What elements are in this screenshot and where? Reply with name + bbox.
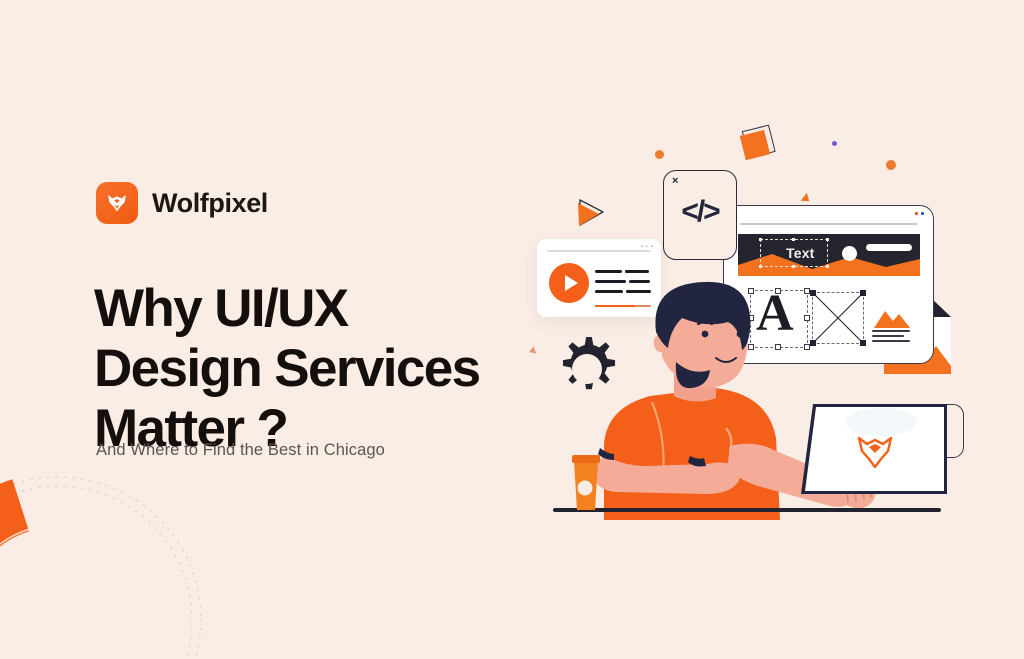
headline-line-1: Why UI/UX bbox=[94, 279, 554, 339]
headline-line-2: Design Services bbox=[94, 339, 554, 399]
card-divider bbox=[547, 250, 651, 252]
decor-dot-purple bbox=[832, 141, 837, 146]
code-icon: </> bbox=[664, 195, 736, 229]
page-title: Why UI/UX Design Services Matter ? bbox=[94, 279, 554, 459]
circle-shape bbox=[842, 246, 857, 261]
code-snippet-card[interactable]: × </> bbox=[663, 170, 737, 260]
brand-name: Wolfpixel bbox=[152, 188, 268, 219]
close-icon[interactable]: × bbox=[672, 175, 678, 187]
decorative-ring bbox=[0, 470, 208, 659]
pill-shape bbox=[866, 244, 912, 251]
play-triangle-icon bbox=[574, 196, 608, 230]
page-subtitle: And Where to Find the Best in Chicago bbox=[96, 441, 385, 460]
window-dots: • • • bbox=[641, 244, 654, 250]
window-controls[interactable] bbox=[915, 212, 924, 215]
decor-dot-orange-1 bbox=[655, 150, 664, 159]
toolbar-divider bbox=[740, 223, 917, 225]
hero-banner: Wolfpixel Why UI/UX Design Services Matt… bbox=[0, 0, 1024, 659]
brand-logo[interactable]: Wolfpixel bbox=[96, 182, 268, 224]
wolf-head-icon bbox=[96, 182, 138, 224]
laptop[interactable] bbox=[797, 398, 953, 510]
coffee-cup-icon bbox=[572, 452, 600, 510]
decor-triangle-small bbox=[801, 193, 813, 205]
hero-text-label: Text bbox=[786, 245, 815, 261]
desk-surface bbox=[553, 508, 941, 512]
decor-square-orange bbox=[739, 125, 775, 161]
decor-dot-orange-2 bbox=[886, 160, 896, 170]
